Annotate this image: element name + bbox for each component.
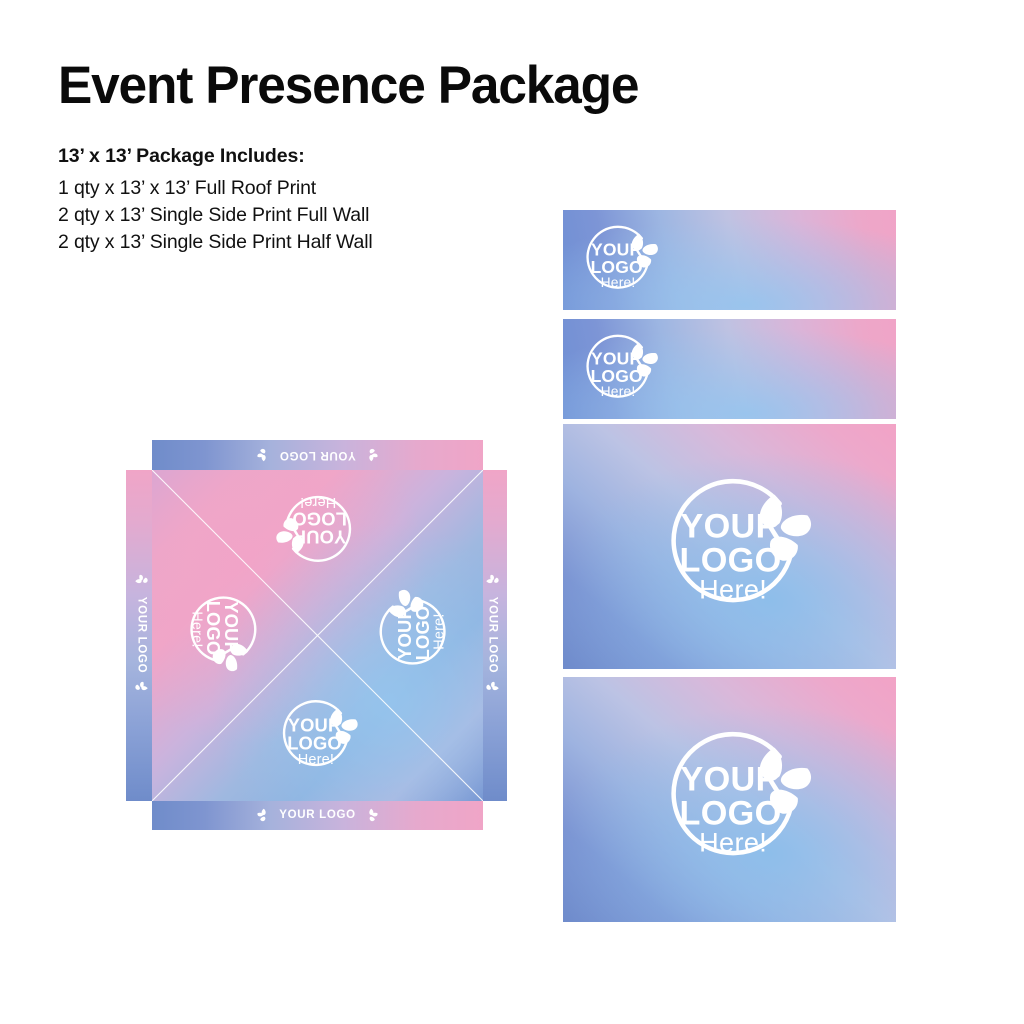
valance-bottom-content: YOUR LOGO [152,800,483,830]
list-item: 2 qty x 13’ Single Side Print Half Wall [58,229,373,256]
petal-sprig-icon [135,575,149,589]
petal-sprig-icon [364,808,378,822]
full-wall-mockup-1[interactable] [563,424,896,669]
roof-logo-left [177,587,264,677]
roof-mockup[interactable] [152,470,483,801]
valance-label: YOUR LOGO [279,449,356,461]
petal-sprig-icon [486,575,500,589]
petal-sprig-icon [364,448,378,462]
logo-lockup [577,328,663,411]
valance-label: YOUR LOGO [487,597,499,674]
logo-lockup [577,219,663,302]
package-includes-list: 1 qty x 13’ x 13’ Full Roof Print 2 qty … [58,175,373,256]
valance-top-content: YOUR LOGO [152,440,483,470]
valance-label: YOUR LOGO [279,809,356,821]
artboard: Event Presence Package 13’ x 13’ Package… [0,0,1024,1024]
valance-bottom[interactable]: YOUR LOGO [152,800,483,830]
roof-logo-bottom [273,693,363,780]
valance-label: YOUR LOGO [136,597,148,674]
list-item: 1 qty x 13’ x 13’ Full Roof Print [58,175,373,202]
valance-top[interactable]: YOUR LOGO [152,440,483,470]
logo-lockup [653,719,821,881]
list-item: 2 qty x 13’ Single Side Print Full Wall [58,202,373,229]
half-wall-mockup-2[interactable] [563,319,896,419]
full-wall-mockup-2[interactable] [563,677,896,922]
petal-sprig-icon [486,681,500,695]
petal-sprig-icon [257,808,271,822]
roof-logo-right [373,585,460,675]
logo-lockup [653,466,821,628]
package-subheading: 13’ x 13’ Package Includes: [58,144,305,168]
page-title: Event Presence Package [58,57,638,115]
roof-logo-top [271,482,361,569]
half-wall-mockup-1[interactable] [563,210,896,310]
petal-sprig-icon [135,681,149,695]
petal-sprig-icon [257,448,271,462]
